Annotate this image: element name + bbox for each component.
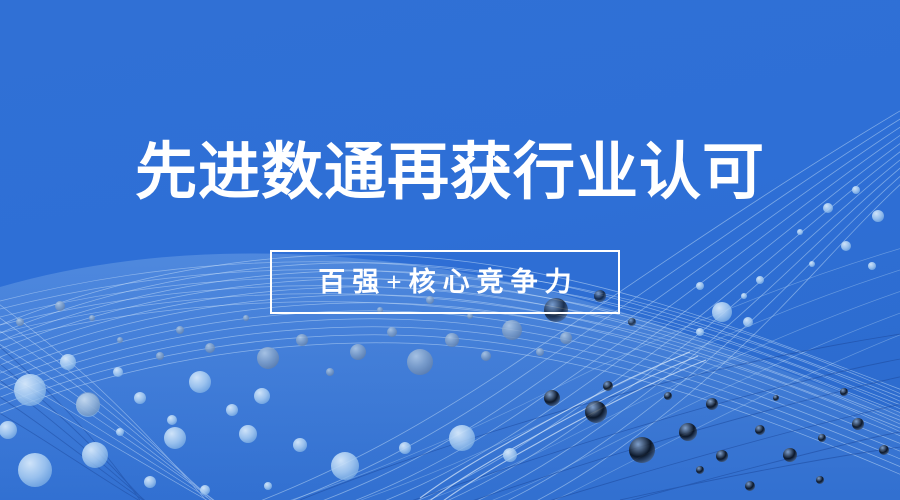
subtitle-badge: 百强+核心竞争力	[270, 250, 620, 314]
promotional-banner: 先进数通再获行业认可 百强+核心竞争力	[0, 0, 900, 500]
page-title: 先进数通再获行业认可	[0, 138, 900, 208]
banner-content: 先进数通再获行业认可 百强+核心竞争力	[0, 0, 900, 500]
subtitle-text: 百强+核心竞争力	[311, 267, 578, 297]
